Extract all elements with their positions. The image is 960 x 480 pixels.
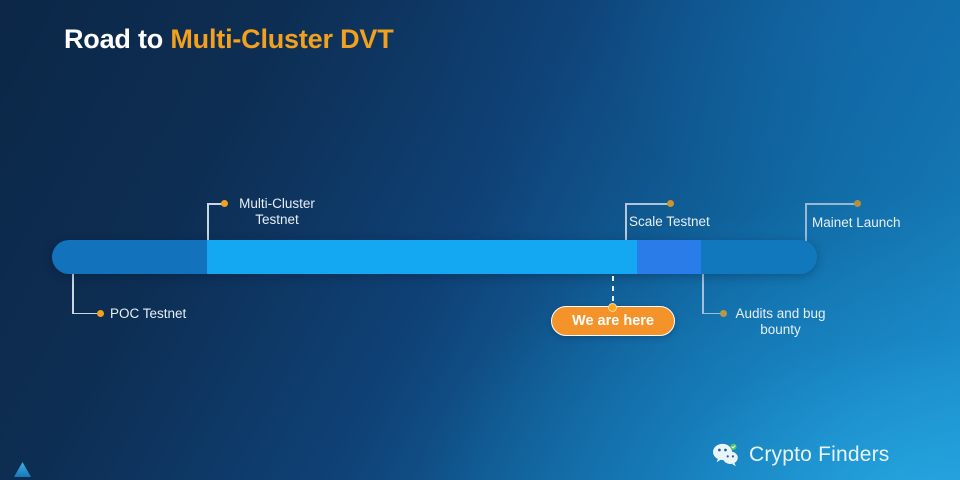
slide-canvas: Road to Multi-Cluster DVT POC Testnet Mu… — [0, 0, 960, 480]
roadmap-progress-bar — [52, 240, 817, 274]
milestone-label-scale-testnet-line1: Scale Testnet — [629, 214, 710, 229]
milestone-dot-multi-cluster-testnet — [221, 200, 228, 207]
page-title-highlight: Multi-Cluster DVT — [170, 24, 393, 54]
milestone-label-audits-and-bug-bounty-line1: Audits and bug — [733, 306, 828, 322]
milestone-dot-poc-testnet — [97, 310, 104, 317]
milestone-label-mainet-launch-line1: Mainet Launch — [812, 215, 901, 230]
milestone-dot-audits-and-bug-bounty — [720, 310, 727, 317]
milestone-dot-scale-testnet — [667, 200, 674, 207]
milestone-label-multi-cluster-testnet-line1: Multi-Cluster — [232, 196, 322, 212]
wechat-icon — [712, 442, 740, 468]
milestone-label-poc-testnet: POC Testnet — [110, 306, 186, 322]
milestone-label-audits-and-bug-bounty-line2: bounty — [733, 322, 828, 338]
milestone-label-audits-and-bug-bounty: Audits and bug bounty — [733, 306, 828, 338]
watermark: Crypto Finders — [712, 442, 890, 468]
milestone-label-multi-cluster-testnet-line2: Testnet — [232, 212, 322, 228]
milestone-label-poc-testnet-line1: POC Testnet — [110, 306, 186, 321]
milestone-label-mainet-launch: Mainet Launch — [812, 215, 901, 231]
bar-segment-poc-testnet — [52, 240, 207, 274]
milestone-label-scale-testnet: Scale Testnet — [629, 214, 710, 230]
bar-segment-multi-cluster-testnet — [207, 240, 637, 274]
corner-accent-triangle — [14, 462, 31, 477]
current-position-dot — [608, 303, 617, 312]
watermark-text: Crypto Finders — [749, 443, 890, 467]
current-position-dashed-line — [612, 276, 614, 306]
bar-segment-audits-and-bug-bounty — [637, 240, 701, 274]
bar-segment-mainet-launch — [701, 240, 817, 274]
milestone-dot-mainet-launch — [854, 200, 861, 207]
milestone-label-multi-cluster-testnet: Multi-Cluster Testnet — [232, 196, 322, 228]
page-title-lead: Road to — [64, 24, 170, 54]
we-are-here-label: We are here — [572, 313, 654, 329]
page-title: Road to Multi-Cluster DVT — [64, 24, 394, 55]
